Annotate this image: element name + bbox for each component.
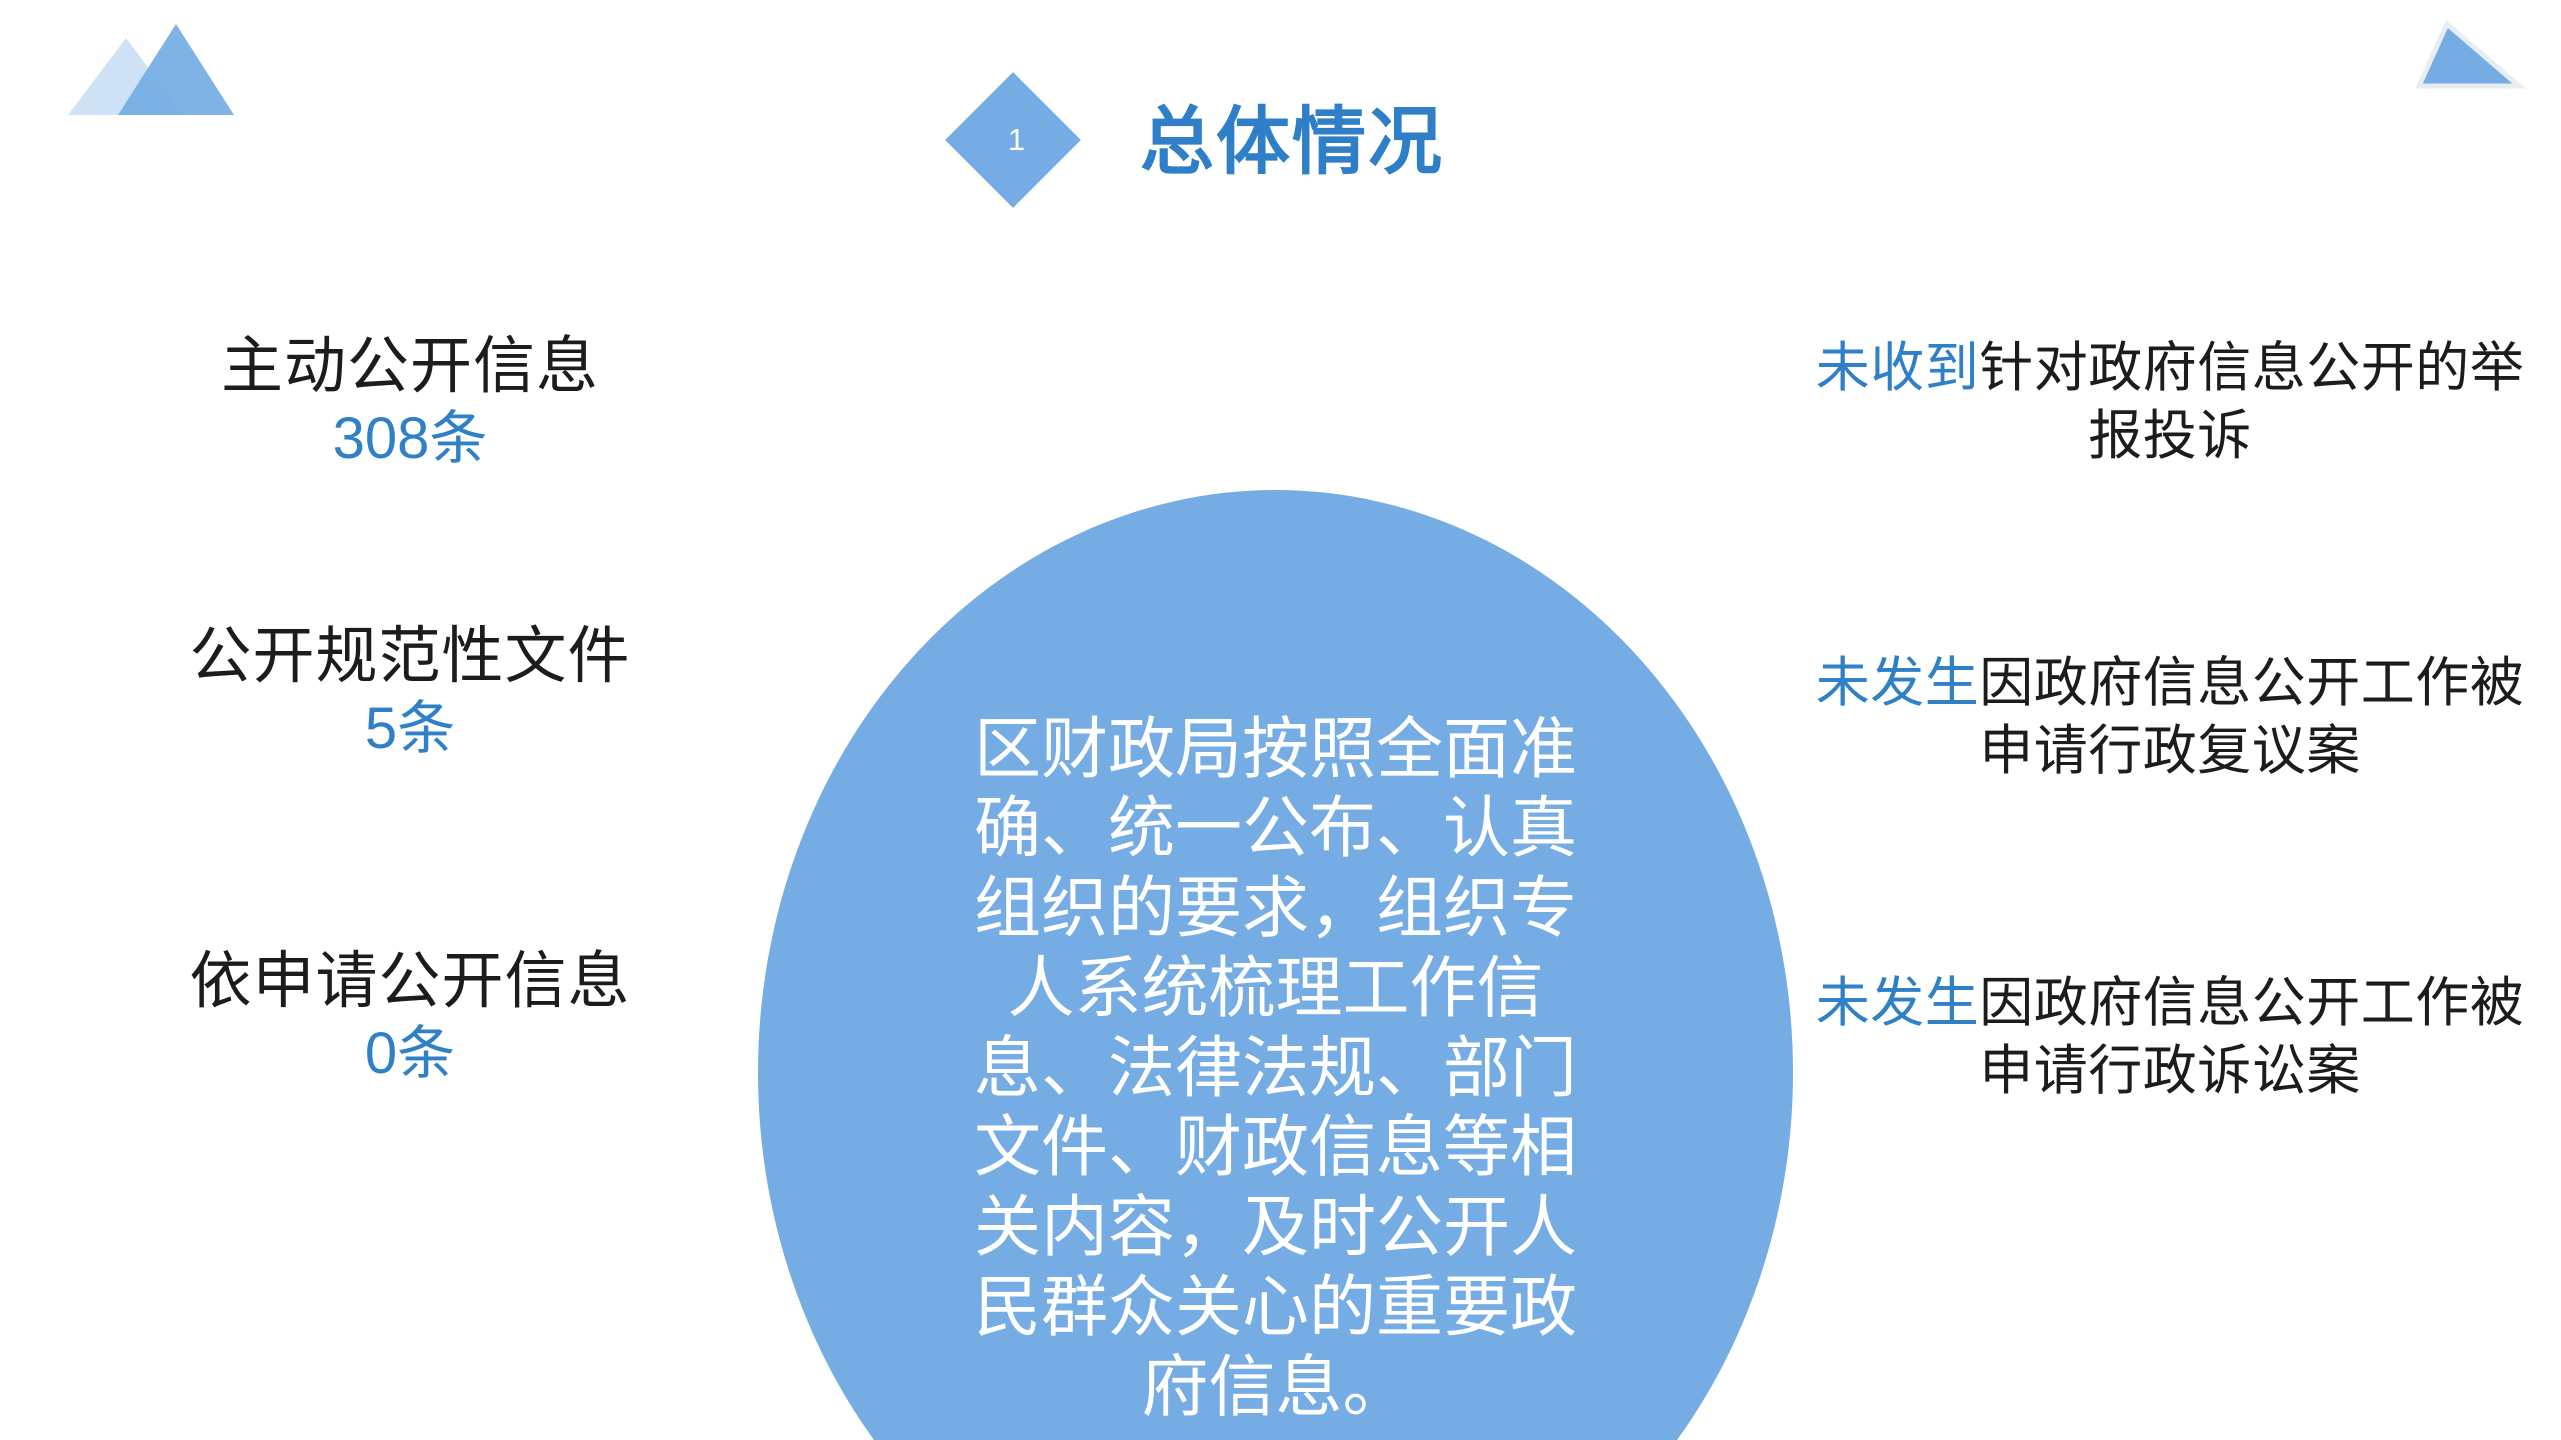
note-accent-text: 未发生 xyxy=(1816,973,1980,1033)
stat-label: 依申请公开信息 xyxy=(60,945,760,1018)
slide-canvas: 1 总体情况 主动公开信息 308条 公开规范性文件 5条 依申请公开信息 0条… xyxy=(0,0,2561,1440)
note-body-text: 因政府信息公开工作被申请行政诉讼案 xyxy=(1979,973,2524,1101)
stat-block: 主动公开信息 308条 xyxy=(60,330,760,474)
section-number-label: 1 xyxy=(945,72,1080,207)
note-block: 未发生因政府信息公开工作被申请行政诉讼案 xyxy=(1795,970,2545,1105)
slide-header: 1 总体情况 xyxy=(0,0,2561,240)
center-ellipse-callout: 区财政局按照全面准确、统一公布、认真组织的要求，组织专人系统梳理工作信息、法律法… xyxy=(758,490,1793,1440)
center-ellipse-text: 区财政局按照全面准确、统一公布、认真组织的要求，组织专人系统梳理工作信息、法律法… xyxy=(956,710,1596,1427)
note-block: 未收到针对政府信息公开的举报投诉 xyxy=(1795,335,2545,470)
stat-block: 公开规范性文件 5条 xyxy=(60,620,760,764)
left-stats-column: 主动公开信息 308条 公开规范性文件 5条 依申请公开信息 0条 xyxy=(30,240,790,1440)
stat-value: 0条 xyxy=(60,1020,760,1088)
right-notes-column: 未收到针对政府信息公开的举报投诉 未发生因政府信息公开工作被申请行政复议案 未发… xyxy=(1785,240,2545,1440)
note-body-text: 因政府信息公开工作被申请行政复议案 xyxy=(1979,653,2524,781)
note-body-text: 针对政府信息公开的举报投诉 xyxy=(1979,338,2524,466)
stat-label: 主动公开信息 xyxy=(60,330,760,403)
section-number-badge: 1 xyxy=(945,72,1080,207)
page-title: 总体情况 xyxy=(1140,82,1444,189)
note-accent-text: 未发生 xyxy=(1816,653,1980,713)
stat-block: 依申请公开信息 0条 xyxy=(60,945,760,1089)
stat-value: 308条 xyxy=(60,405,760,473)
stat-label: 公开规范性文件 xyxy=(60,620,760,693)
note-accent-text: 未收到 xyxy=(1816,338,1980,398)
note-block: 未发生因政府信息公开工作被申请行政复议案 xyxy=(1795,650,2545,785)
stat-value: 5条 xyxy=(60,695,760,763)
slide-body: 主动公开信息 308条 公开规范性文件 5条 依申请公开信息 0条 区财政局按照… xyxy=(0,240,2561,1440)
